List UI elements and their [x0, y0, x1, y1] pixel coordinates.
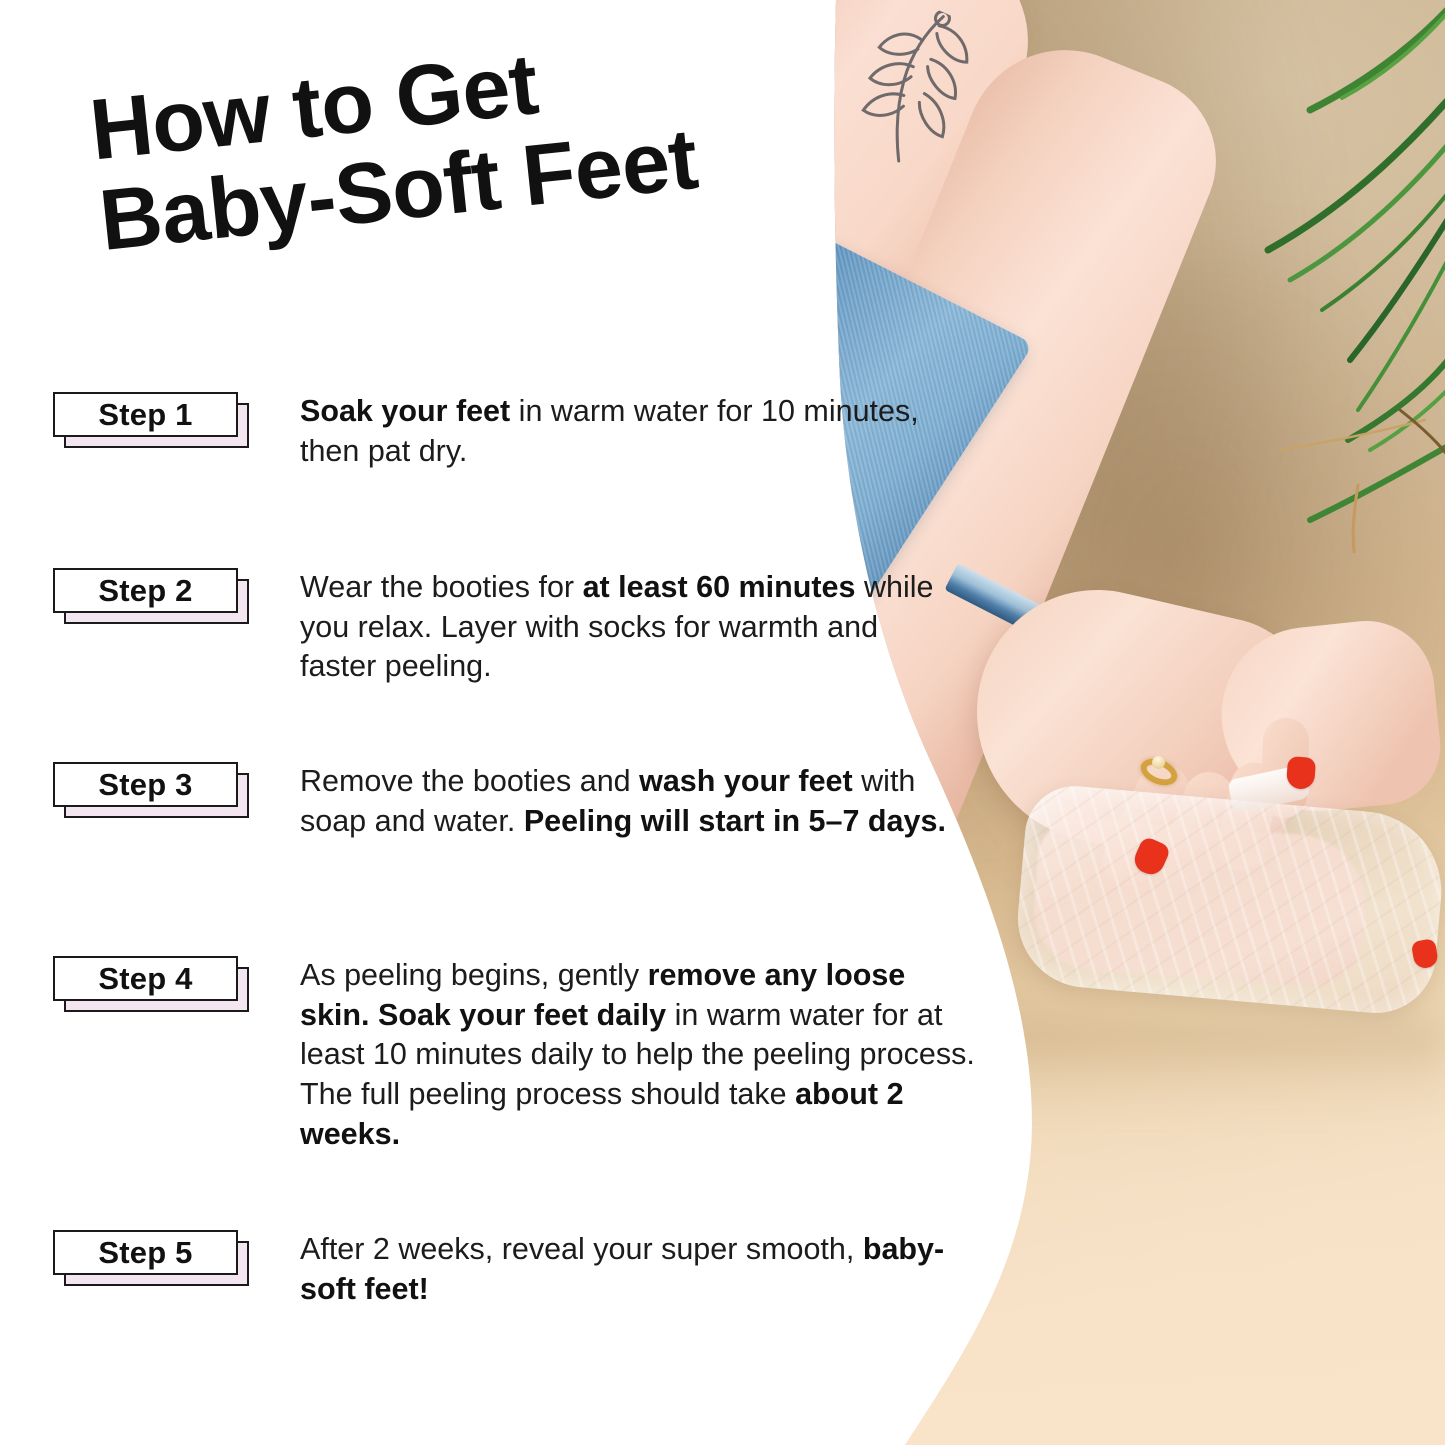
step-badge-label: Step 3 [53, 762, 238, 807]
bamboo-frond-icon [1250, 0, 1445, 560]
page-title: How to Get Baby-Soft Feet [86, 13, 801, 267]
step-badge-label: Step 5 [53, 1230, 238, 1275]
step-badge-5: Step 5 [53, 1230, 249, 1286]
infographic-canvas: How to Get Baby-Soft Feet Step 1 Soak yo… [0, 0, 1445, 1445]
step-badge-label: Step 4 [53, 956, 238, 1001]
step-description-4: As peeling begins, gently remove any loo… [300, 956, 980, 1154]
step-description-1: Soak your feet in warm water for 10 minu… [300, 392, 960, 471]
step-badge-2: Step 2 [53, 568, 249, 624]
step-badge-4: Step 4 [53, 956, 249, 1012]
step-badge-label: Step 1 [53, 392, 238, 437]
step-description-3: Remove the booties and wash your feet wi… [300, 762, 960, 841]
plastic-foot-bootie [1012, 782, 1445, 1018]
step-badge-3: Step 3 [53, 762, 249, 818]
step-description-5: After 2 weeks, reveal your super smooth,… [300, 1230, 960, 1309]
step-description-2: Wear the booties for at least 60 minutes… [300, 568, 960, 687]
step-badge-label: Step 2 [53, 568, 238, 613]
step-badge-1: Step 1 [53, 392, 249, 448]
